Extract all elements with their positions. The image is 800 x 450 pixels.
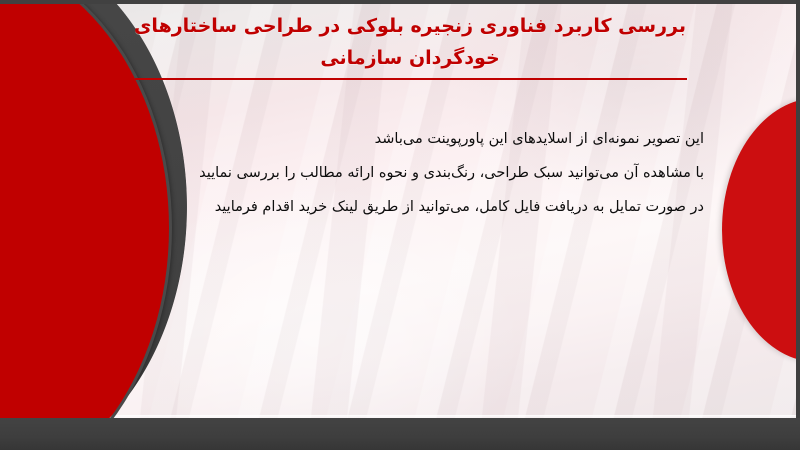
- frame-right-rail: [796, 0, 800, 450]
- slide-body-text: این تصویر نمونه‌ای از اسلایدهای این پاور…: [104, 122, 704, 224]
- slide-title-line-1: بررسی کاربرد فناوری زنجیره بلوکی در طراح…: [110, 10, 710, 42]
- body-line-3: در صورت تمایل به دریافت فایل کامل، می‌تو…: [104, 190, 704, 224]
- slide-title-line-2: خودگردان سازمانی: [110, 42, 710, 74]
- slide-title: بررسی کاربرد فناوری زنجیره بلوکی در طراح…: [110, 10, 710, 74]
- presentation-slide: بررسی کاربرد فناوری زنجیره بلوکی در طراح…: [0, 0, 800, 450]
- body-line-2: با مشاهده آن می‌توانید سبک طراحی، رنگ‌بن…: [104, 156, 704, 190]
- slide-text-layer: بررسی کاربرد فناوری زنجیره بلوکی در طراح…: [18, 4, 796, 418]
- frame-bottom-rail: [0, 418, 800, 450]
- title-divider-rule: [135, 78, 687, 80]
- body-line-1: این تصویر نمونه‌ای از اسلایدهای این پاور…: [104, 122, 704, 156]
